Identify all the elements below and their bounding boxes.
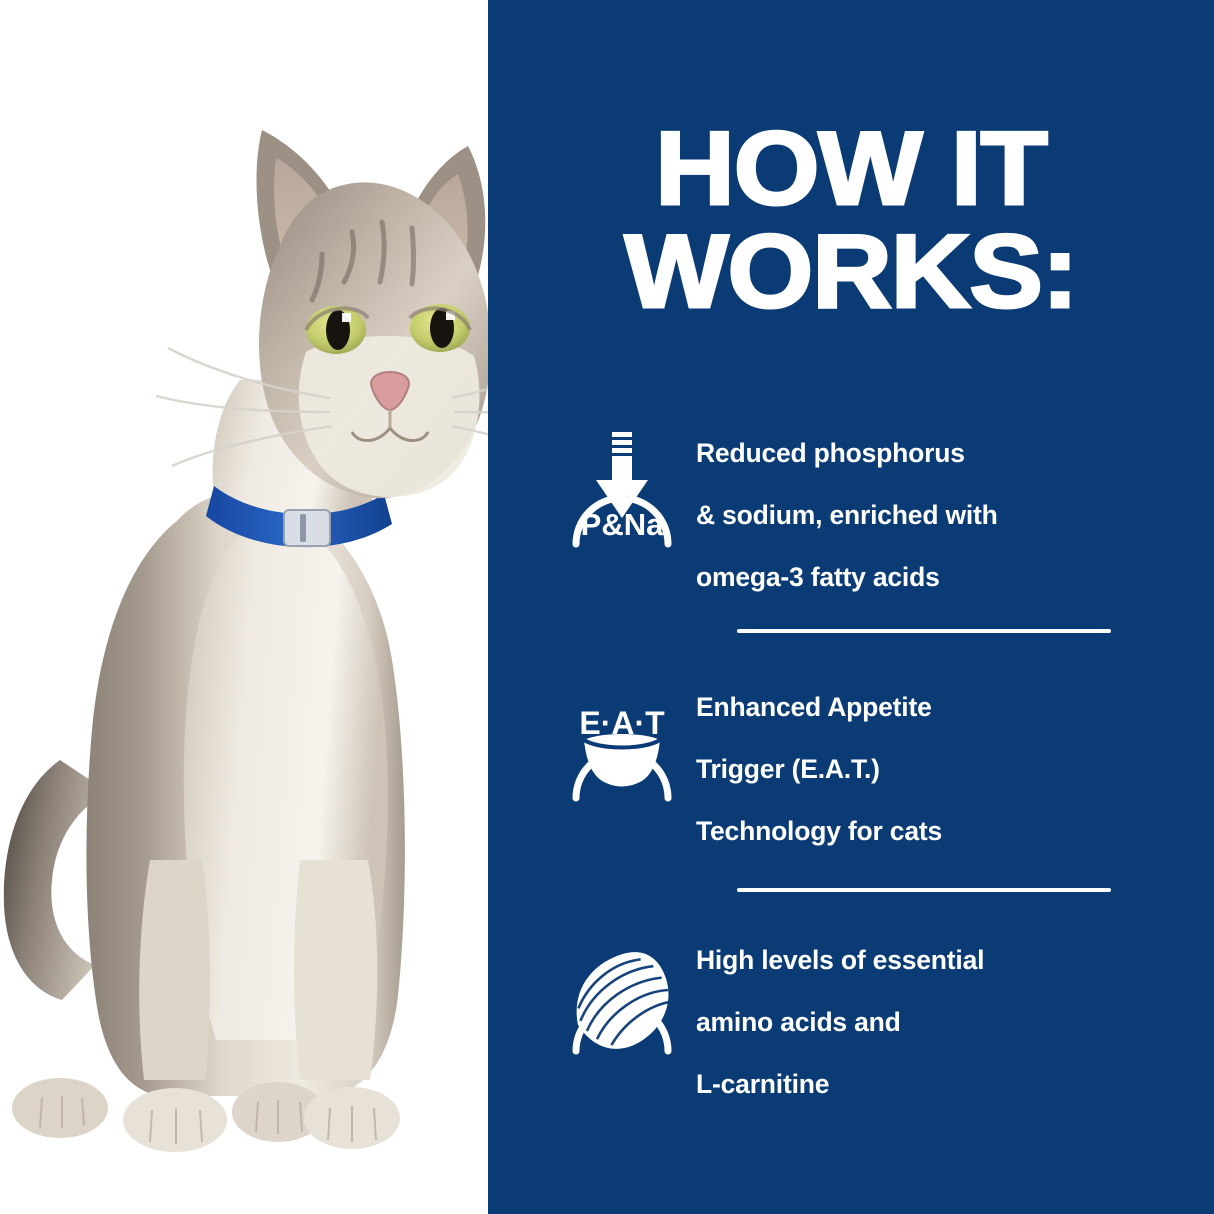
page-title-line-2: WORKS:: [466, 221, 1214, 324]
feature-line: High levels of essential: [696, 929, 1148, 991]
feature-row-amino-acids: High levels of essential amino acids and…: [548, 925, 1148, 1115]
phosphorus-sodium-down-arrow-icon: P&Na: [548, 422, 696, 552]
feature-line: & sodium, enriched with: [696, 484, 1148, 546]
feature-line: Reduced phosphorus: [696, 422, 1148, 484]
cat-eye-highlight-left: [342, 313, 351, 322]
feature-line: amino acids and: [696, 991, 1148, 1053]
feature-row-eat-technology: E·A·T Enhanced Appetite Trigger (E.A.T.)…: [548, 672, 1148, 862]
page-title-line-1: HOW IT: [466, 118, 1214, 221]
cat-photo-panel: [0, 0, 488, 1214]
eat-label: E·A·T: [579, 705, 665, 741]
feature-text-reduced-phosphorus: Reduced phosphorus & sodium, enriched wi…: [696, 418, 1148, 608]
feature-line: Technology for cats: [696, 800, 1148, 862]
how-it-works-infographic: HOW IT WORKS: P&Na Reduced phosphorus & …: [0, 0, 1214, 1214]
feature-line: Enhanced Appetite: [696, 676, 1148, 738]
feature-row-reduced-phosphorus: P&Na Reduced phosphorus & sodium, enrich…: [548, 418, 1148, 608]
feature-line: Trigger (E.A.T.): [696, 738, 1148, 800]
divider-between-feature-1-and-2: [737, 629, 1111, 633]
divider-between-feature-2-and-3: [737, 888, 1111, 892]
cat-paw-rear: [12, 1078, 108, 1138]
page-title: HOW IT WORKS:: [488, 118, 1214, 324]
feature-line: L-carnitine: [696, 1053, 1148, 1115]
cat-photo: [0, 0, 488, 1214]
muscle-fiber-icon: [548, 929, 696, 1059]
eat-food-bowl-icon: E·A·T: [548, 676, 696, 806]
feature-text-eat-technology: Enhanced Appetite Trigger (E.A.T.) Techn…: [696, 672, 1148, 862]
cat-collar-buckle: [284, 510, 330, 546]
cat-collar-buckle-pin: [300, 514, 306, 542]
phosphorus-sodium-label: P&Na: [581, 507, 664, 542]
cat-front-left-leg: [139, 860, 210, 1080]
feature-line: omega-3 fatty acids: [696, 546, 1148, 608]
cat-front-right-leg: [294, 860, 377, 1080]
feature-text-amino-acids: High levels of essential amino acids and…: [696, 925, 1148, 1115]
